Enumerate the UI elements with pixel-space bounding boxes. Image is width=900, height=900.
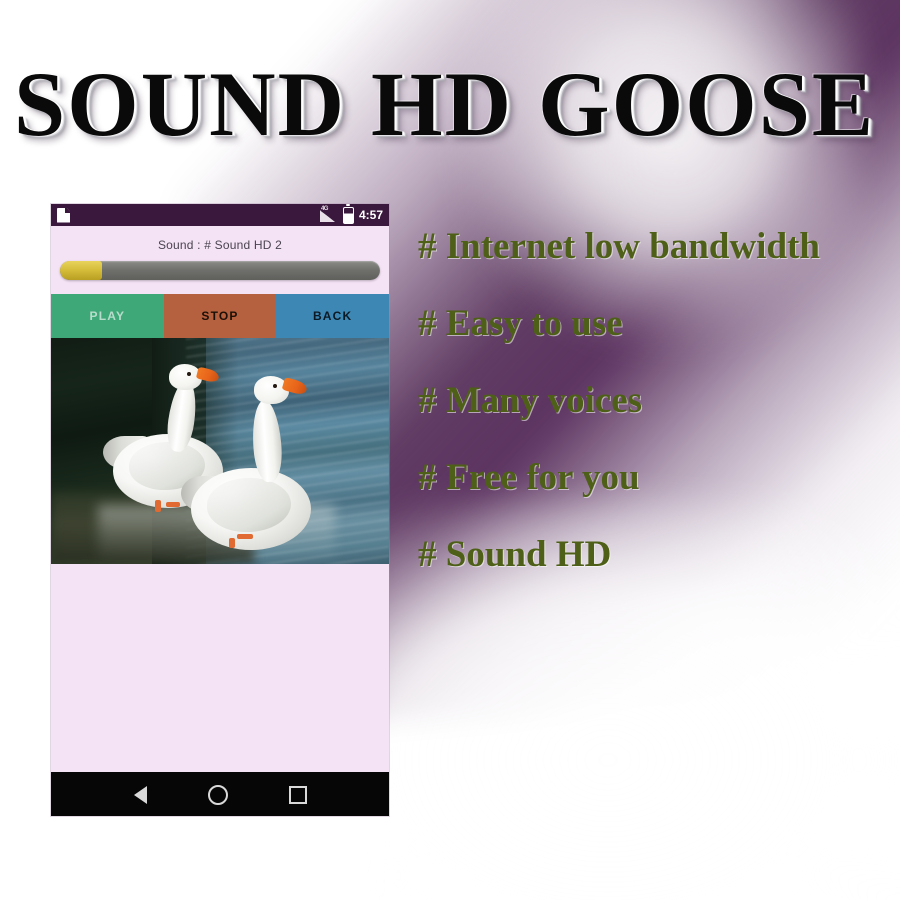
note-icon bbox=[57, 208, 70, 223]
goose-photo bbox=[51, 338, 389, 564]
seekbar-progress-fill bbox=[60, 261, 102, 280]
feature-item: # Free for you bbox=[418, 459, 888, 496]
triangle-back-icon[interactable] bbox=[134, 786, 147, 804]
seekbar[interactable] bbox=[60, 261, 380, 280]
feature-list: # Internet low bandwidth # Easy to use #… bbox=[418, 228, 888, 613]
status-bar: 4G 4:57 bbox=[51, 204, 389, 226]
circle-home-icon[interactable] bbox=[208, 785, 228, 805]
feature-item: # Easy to use bbox=[418, 305, 888, 342]
status-bar-clock: 4:57 bbox=[359, 208, 383, 222]
feature-item: # Sound HD bbox=[418, 536, 888, 573]
status-bar-left bbox=[57, 208, 70, 223]
back-button[interactable]: BACK bbox=[276, 294, 389, 338]
signal-label: 4G bbox=[321, 206, 328, 212]
feature-item: # Internet low bandwidth bbox=[418, 228, 888, 265]
signal-4g-icon: 4G bbox=[320, 208, 338, 222]
sound-title-label: Sound : # Sound HD 2 bbox=[51, 226, 389, 258]
feature-item: # Many voices bbox=[418, 382, 888, 419]
stop-button[interactable]: STOP bbox=[164, 294, 277, 338]
phone-mockup: 4G 4:57 Sound : # Sound HD 2 PLAY STOP B… bbox=[51, 204, 389, 816]
promo-banner: SOUND HD GOOSE 4G 4:57 Sound : # Sound H… bbox=[0, 0, 900, 900]
app-empty-area bbox=[51, 564, 389, 772]
transport-button-row: PLAY STOP BACK bbox=[51, 294, 389, 338]
play-button[interactable]: PLAY bbox=[51, 294, 164, 338]
android-nav-bar bbox=[51, 772, 389, 816]
status-bar-right: 4G 4:57 bbox=[320, 207, 383, 224]
square-recents-icon[interactable] bbox=[289, 786, 307, 804]
page-title: SOUND HD GOOSE bbox=[14, 58, 886, 150]
battery-icon bbox=[343, 207, 354, 224]
seekbar-container bbox=[51, 258, 389, 294]
app-content: Sound : # Sound HD 2 PLAY STOP BACK bbox=[51, 226, 389, 772]
